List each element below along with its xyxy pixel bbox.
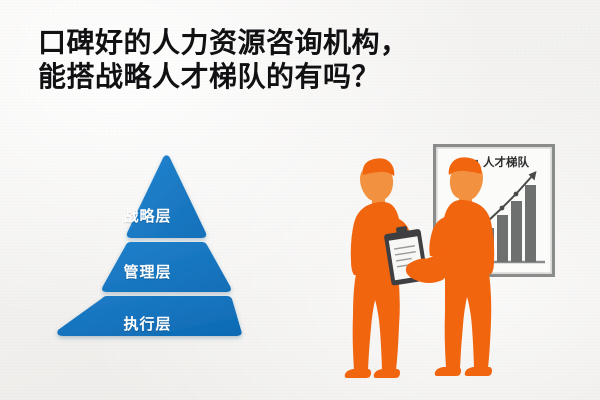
person-left-shoe	[345, 369, 371, 378]
headline-line-1: 口碑好的人力资源咨询机构，	[38, 26, 568, 60]
person-right-shoe	[435, 367, 461, 376]
page-title: 口碑好的人力资源咨询机构， 能搭战略人才梯队的有吗？	[38, 26, 568, 94]
person-left-legs	[353, 274, 400, 370]
person-left-shoe	[374, 369, 400, 378]
chart-bar	[525, 185, 536, 262]
pyramid-label-management: 管理层	[50, 261, 245, 282]
person-right	[406, 157, 494, 376]
pyramid-diagram: 战略层 管理层 执行层	[50, 150, 245, 345]
pyramid-label-strategic: 战略层	[50, 205, 245, 226]
handshake-illustration	[330, 155, 515, 390]
poster-canvas: 口碑好的人力资源咨询机构， 能搭战略人才梯队的有吗？	[0, 0, 600, 400]
pyramid-label-execution: 执行层	[50, 313, 245, 334]
person-right-shoe	[465, 367, 492, 376]
person-right-legs	[445, 272, 492, 368]
headline-line-2: 能搭战略人才梯队的有吗？	[38, 60, 568, 94]
